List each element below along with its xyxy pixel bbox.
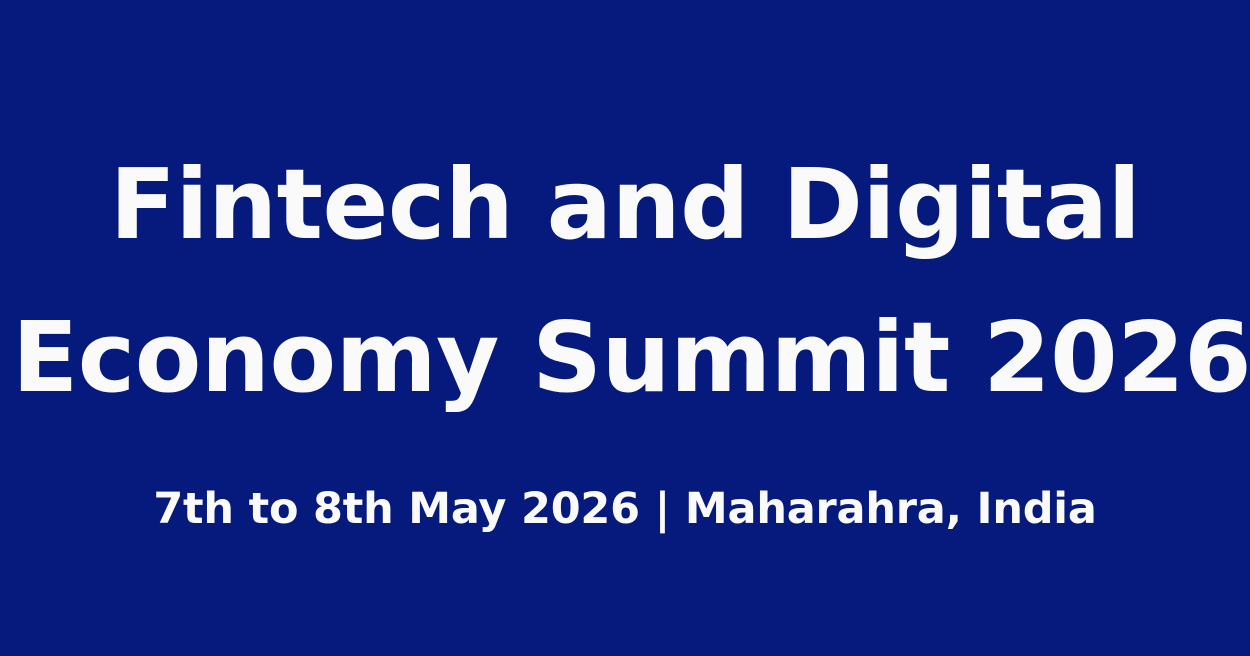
event-title: Fintech and Digital Economy Summit 2026 <box>0 128 1250 434</box>
event-title-line-1: Fintech and Digital <box>12 128 1238 281</box>
event-date-location-text: 7th to 8th May 2026 | Maharahra, India <box>153 478 1096 540</box>
event-subtitle: 7th to 8th May 2026 | Maharahra, India <box>0 478 1250 540</box>
event-banner: Fintech and Digital Economy Summit 2026 … <box>0 0 1250 656</box>
event-title-line-2: Economy Summit 2026 <box>12 281 1238 434</box>
